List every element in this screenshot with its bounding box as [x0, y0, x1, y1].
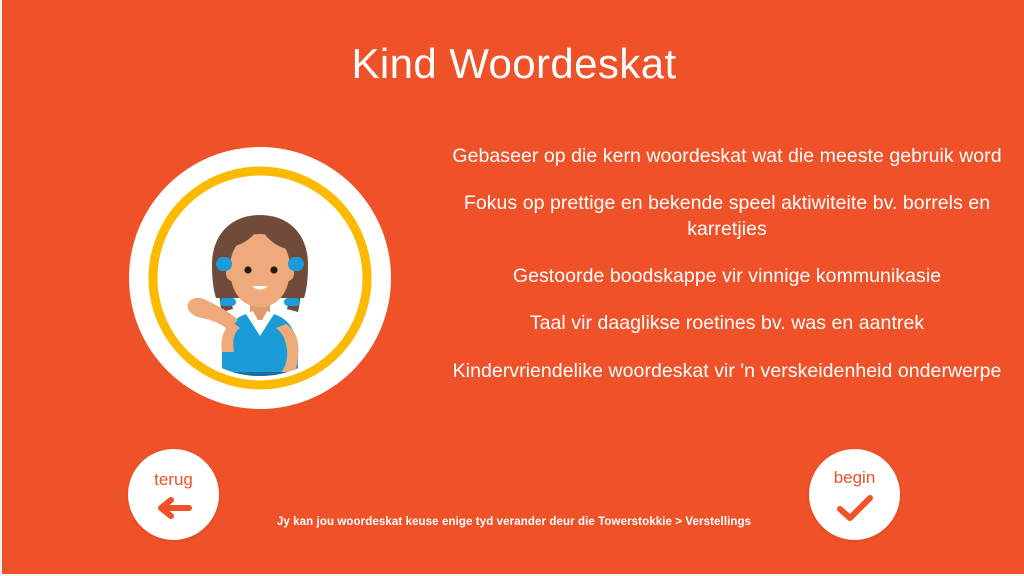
feature-item: Gestoorde boodskappe vir vinnige kommuni…	[434, 264, 1020, 289]
feature-item: Gebaseer op die kern woordeskat wat die …	[434, 144, 1020, 169]
back-button-label: terug	[154, 471, 193, 488]
hairtie-top-right	[288, 257, 304, 271]
child-avatar-illustration	[128, 146, 392, 410]
eye-right	[270, 266, 277, 273]
feature-list: Gebaseer op die kern woordeskat wat die …	[434, 144, 1020, 384]
hairtie-braid-left	[220, 298, 236, 306]
hairtie-braid-right	[284, 298, 300, 306]
eye-left	[244, 266, 251, 273]
feature-item: Taal vir daaglikse roetines bv. was en a…	[434, 311, 1020, 336]
feature-item: Fokus op prettige en bekende speel aktiw…	[434, 191, 1020, 242]
vocabulary-selection-screen: Kind Woordeskat	[0, 0, 1024, 576]
footer-hint: Jy kan jou woordeskat keuse enige tyd ve…	[2, 516, 1024, 528]
page-title: Kind Woordeskat	[2, 40, 1024, 88]
start-button-label: begin	[834, 469, 876, 486]
feature-item: Kindervriendelike woordeskat vir 'n vers…	[434, 359, 1020, 384]
hairtie-top-left	[216, 257, 232, 271]
